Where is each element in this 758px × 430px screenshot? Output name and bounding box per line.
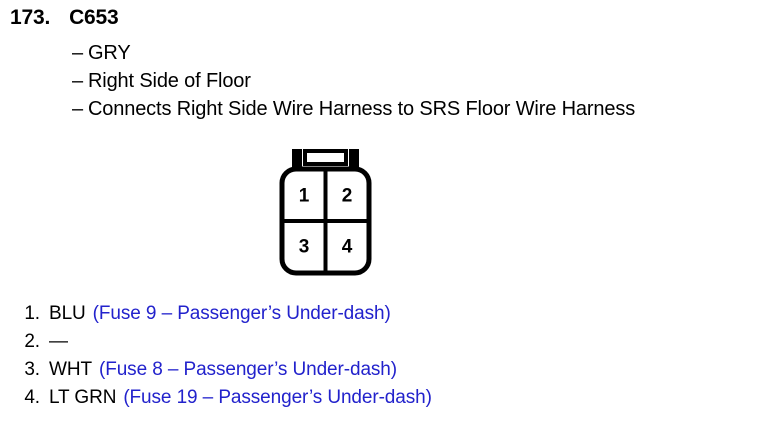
bullet-dash-icon: – (72, 98, 88, 121)
pin-number-3: 3 (299, 237, 310, 258)
pin-list-number: 1. (14, 303, 40, 325)
description-line: –Right Side of Floor (72, 70, 251, 93)
pin-list-item: 2.— (14, 331, 754, 359)
pin-list-item: 3.WHT(Fuse 8 – Passenger’s Under-dash) (14, 359, 754, 387)
pin-list-number: 4. (14, 387, 40, 409)
description-line: –GRY (72, 42, 131, 65)
pin-list-item: 1.BLU(Fuse 9 – Passenger’s Under-dash) (14, 303, 754, 331)
latch-bar-icon (305, 151, 346, 164)
pin-circuit-note: (Fuse 9 – Passenger’s Under-dash) (93, 303, 391, 324)
pin-list-number: 3. (14, 359, 40, 381)
entry-index: 173. (10, 6, 50, 29)
description-text: GRY (88, 42, 131, 64)
pin-number-2: 2 (342, 186, 353, 207)
pin-number-4: 4 (342, 237, 353, 258)
pin-list-item: 4.LT GRN(Fuse 19 – Passenger’s Under-das… (14, 387, 754, 415)
pin-wire-color: LT GRN (49, 387, 116, 409)
pin-wire-color: BLU (49, 303, 86, 325)
description-text: Connects Right Side Wire Harness to SRS … (88, 98, 635, 120)
connector-diagram: 1 2 3 4 (258, 143, 433, 283)
description-text: Right Side of Floor (88, 70, 251, 92)
pin-assignment-list: 1.BLU(Fuse 9 – Passenger’s Under-dash) 2… (14, 303, 754, 415)
pin-wire-color: WHT (49, 359, 92, 381)
pin-list-number: 2. (14, 331, 40, 353)
bullet-dash-icon: – (72, 42, 88, 65)
pin-number-1: 1 (299, 186, 310, 207)
pin-circuit-note: (Fuse 8 – Passenger’s Under-dash) (99, 359, 397, 380)
pin-circuit-note: (Fuse 19 – Passenger’s Under-dash) (123, 387, 432, 408)
pin-wire-color: — (49, 331, 68, 353)
connector-code: C653 (69, 6, 118, 29)
bullet-dash-icon: – (72, 70, 88, 93)
entry-title: 173.C653 (10, 6, 118, 30)
description-line: –Connects Right Side Wire Harness to SRS… (72, 98, 635, 121)
